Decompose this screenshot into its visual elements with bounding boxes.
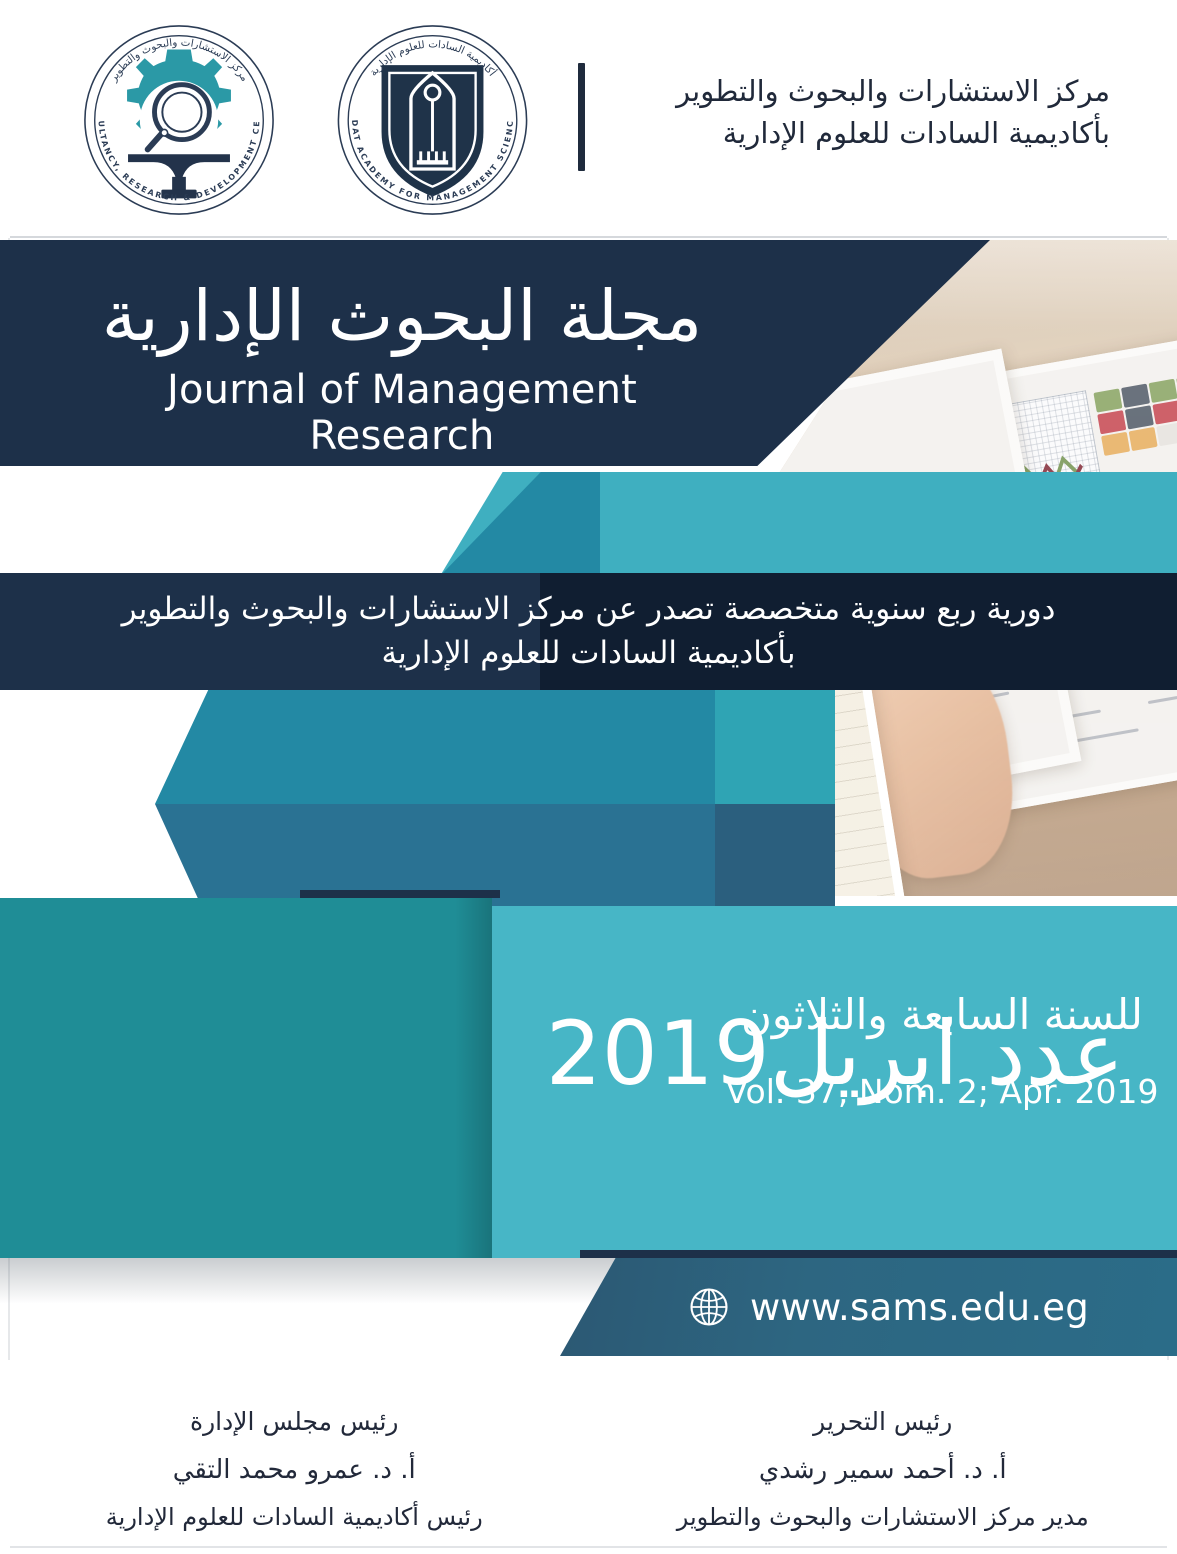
chairman-affiliation: رئيس أكاديمية السادات للعلوم الإدارية <box>0 1495 589 1541</box>
cover-footer: رئيس التحرير أ. د. أحمد سمير رشدي مدير م… <box>0 1360 1177 1554</box>
chairman-name: أ. د. عمرو محمد التقي <box>0 1446 589 1495</box>
subtitle-line-1: دورية ربع سنوية متخصصة تصدر عن مركز الاس… <box>60 587 1117 631</box>
chevron-upper <box>155 690 715 804</box>
globe-icon <box>688 1286 730 1328</box>
editor-role: رئيس التحرير <box>589 1398 1177 1446</box>
chevron-upper-right <box>715 690 835 804</box>
issue-edge-top <box>300 890 500 898</box>
journal-title-english: Journal of Management Research <box>82 367 722 459</box>
issue-block: للسنة السابعة والثلاثون Vol. 37, Nom. 2;… <box>0 898 1177 1258</box>
organization-name: مركز الاستشارات والبحوث والتطوير بأكاديم… <box>620 70 1110 154</box>
issue-block-left <box>0 898 492 1258</box>
website-band[interactable]: www.sams.edu.eg <box>560 1258 1177 1356</box>
footer-column-editor: رئيس التحرير أ. د. أحمد سمير رشدي مدير م… <box>589 1360 1177 1554</box>
header-rule <box>10 236 1167 238</box>
editor-name: أ. د. أحمد سمير رشدي <box>589 1446 1177 1495</box>
chairman-role: رئيس مجلس الإدارة <box>0 1398 589 1446</box>
footer-column-chairman: رئيس مجلس الإدارة أ. د. عمرو محمد التقي … <box>0 1360 589 1554</box>
issue-edge-bottom <box>580 1250 1177 1258</box>
organization-line-1: مركز الاستشارات والبحوث والتطوير <box>620 70 1110 112</box>
crdc-logo: مركز الاستشارات والبحوث والتطوير CONSULT… <box>68 22 290 218</box>
sams-logo: أكاديمية السادات للعلوم الإدارية SADAT A… <box>325 22 540 218</box>
journal-cover: مركز الاستشارات والبحوث والتطوير CONSULT… <box>0 0 1177 1554</box>
subtitle-text: دورية ربع سنوية متخصصة تصدر عن مركز الاس… <box>0 587 1177 675</box>
journal-title-arabic: مجلة البحوث الإدارية <box>82 278 722 355</box>
organization-line-2: بأكاديمية السادات للعلوم الإدارية <box>620 112 1110 154</box>
website-url[interactable]: www.sams.edu.eg <box>750 1286 1089 1329</box>
header-divider <box>578 63 585 171</box>
editor-affiliation: مدير مركز الاستشارات والبحوث والتطوير <box>589 1495 1177 1541</box>
cover-header: مركز الاستشارات والبحوث والتطوير CONSULT… <box>0 0 1177 238</box>
footer-rule <box>10 1546 1167 1548</box>
issue-block-shadow <box>455 898 492 1258</box>
subtitle-line-2: بأكاديمية السادات للعلوم الإدارية <box>60 631 1117 675</box>
issue-title-arabic: عدد ابريل2019 <box>510 1010 1160 1098</box>
